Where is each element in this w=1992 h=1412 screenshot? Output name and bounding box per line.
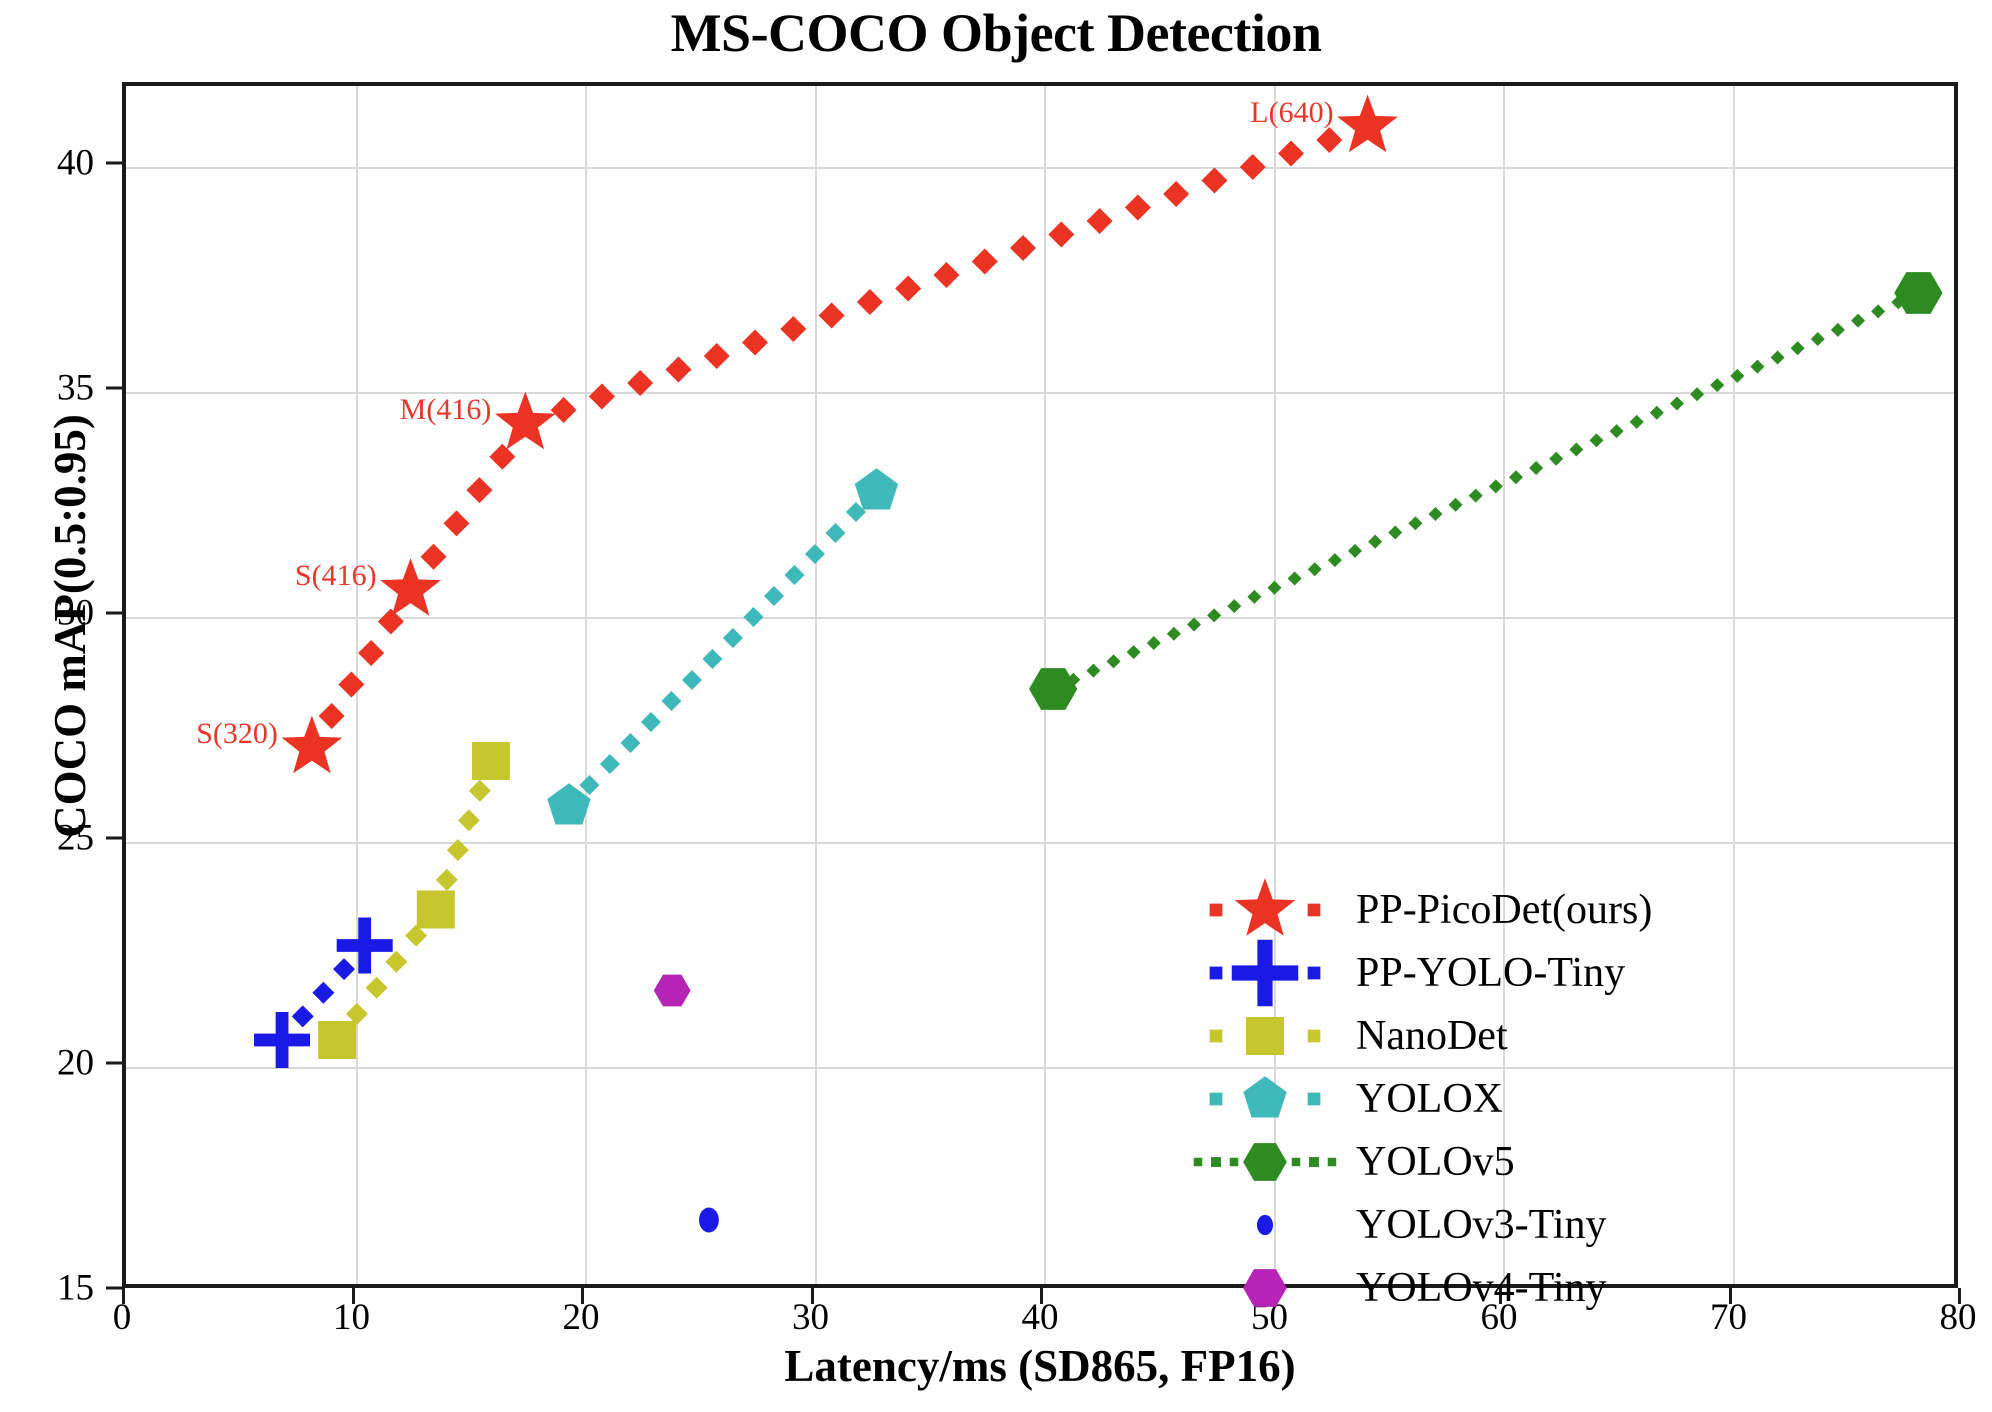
connector-dot-yolov5 [1086, 664, 1100, 678]
legend-marker-star-icon [1190, 881, 1350, 939]
connector-dot-pp-picodet(ours) [421, 544, 447, 570]
connector-dot-nanodet [405, 925, 427, 947]
legend-marker-pentagon-icon [1190, 1070, 1350, 1128]
connector-dot-yolox [846, 502, 866, 522]
connector-dot-pp-picodet(ours) [665, 357, 691, 383]
figure-canvas: MS-COCO Object Detection S(320)S(416)M(4… [0, 0, 1992, 1412]
y-tick-mark [106, 162, 122, 165]
connector-dot-yolox [764, 586, 784, 606]
point-label-m-416-: M(416) [400, 393, 492, 427]
connector-dot-yolov5 [1509, 470, 1523, 484]
connector-dot-yolov5 [1328, 553, 1342, 567]
x-tick-label: 80 [1898, 1296, 1992, 1339]
connector-dot-yolov5 [1167, 627, 1181, 641]
connector-dot-yolov5 [1549, 452, 1563, 466]
data-point-pp-picodet-ours- [1337, 95, 1398, 153]
connector-dot-pp-picodet(ours) [1278, 141, 1304, 167]
connector-dot-pp-picodet(ours) [933, 262, 959, 288]
connector-dot-yolov5 [1408, 516, 1422, 530]
legend-glyph [1243, 1143, 1287, 1181]
x-axis-label: Latency/ms (SD865, FP16) [122, 1340, 1958, 1392]
connector-dot-yolov5 [1750, 360, 1764, 374]
connector-dot-yolov5 [1771, 350, 1785, 364]
gridline-vertical [1733, 86, 1735, 1284]
gridline-vertical [1044, 86, 1046, 1284]
connector-dot-pp-picodet(ours) [443, 510, 469, 536]
legend-marker-hexagon-icon [1190, 1259, 1350, 1317]
connector-dot-pp-picodet(ours) [338, 672, 364, 698]
point-label-s-416-: S(416) [295, 559, 377, 593]
legend-line-dot [1210, 1029, 1223, 1042]
connector-dot-yolox [579, 775, 599, 795]
connector-dot-yolov5 [1207, 608, 1221, 622]
connector-dot-nanodet [385, 951, 407, 973]
connector-dot-yolox [661, 691, 681, 711]
legend-glyph [1235, 878, 1296, 936]
legend-marker-circle-icon [1190, 1196, 1350, 1254]
connector-dot-nanodet [469, 780, 491, 802]
connector-dot-yolox [702, 649, 722, 669]
connector-dot-yolov5 [1368, 535, 1382, 549]
connector-dot-yolov5 [1610, 424, 1624, 438]
connector-dot-yolov5 [1288, 571, 1302, 585]
connector-dot-nanodet [436, 869, 458, 891]
gridline-vertical [815, 86, 817, 1284]
gridline-horizontal [126, 617, 1954, 619]
connector-dot-yolox [682, 670, 702, 690]
connector-dot-yolov5 [1489, 479, 1503, 493]
legend-glyph [1257, 1214, 1273, 1234]
legend-line-dot [1230, 1157, 1238, 1165]
legend-line-dot [1308, 1029, 1321, 1042]
data-point-yolov5 [1894, 272, 1942, 314]
connector-dot-pp-picodet(ours) [319, 703, 345, 729]
x-tick-label: 40 [980, 1296, 1100, 1339]
legend-label: PP-YOLO-Tiny [1356, 949, 1625, 997]
connector-dot-yolov5 [1247, 590, 1261, 604]
connector-dot-pp-picodet(ours) [489, 444, 515, 470]
data-point-nanodet [472, 742, 510, 780]
legend-line-dot [1308, 966, 1321, 979]
x-tick-label: 10 [292, 1296, 412, 1339]
connector-dot-nanodet [366, 977, 388, 999]
y-tick-mark [106, 387, 122, 390]
data-point-nanodet [417, 891, 455, 929]
legend: PP-PicoDet(ours)PP-YOLO-TinyNanoDetYOLOX… [1190, 878, 1690, 1319]
connector-dot-yolov5 [1871, 304, 1885, 318]
y-tick-mark [106, 837, 122, 840]
data-point-yolox [855, 468, 898, 509]
data-point-pp-yolo-tiny [337, 918, 393, 974]
connector-dot-pp-picodet(ours) [1201, 168, 1227, 194]
data-point-yolov4-tiny [654, 975, 691, 1007]
connector-dot-yolox [641, 712, 661, 732]
connector-dot-yolov5 [1449, 498, 1463, 512]
legend-line-dot [1211, 1157, 1221, 1167]
legend-item-pp-yolo-tiny[interactable]: PP-YOLO-Tiny [1190, 941, 1690, 1004]
data-point-yolov5 [1029, 668, 1077, 710]
connector-dot-pp-picodet(ours) [466, 477, 492, 503]
point-label-s-320-: S(320) [196, 717, 278, 751]
connector-dot-yolov5 [1569, 443, 1583, 457]
connector-dot-yolov5 [1388, 525, 1402, 539]
connector-dot-pp-picodet(ours) [378, 609, 404, 635]
x-tick-label: 20 [521, 1296, 641, 1339]
connector-dot-yolov5 [1308, 562, 1322, 576]
legend-label: YOLOv3-Tiny [1356, 1201, 1606, 1249]
legend-line-dot [1308, 903, 1321, 916]
legend-line-dot [1194, 1157, 1202, 1165]
legend-label: YOLOX [1356, 1075, 1503, 1123]
connector-dot-yolov5 [1127, 645, 1141, 659]
connector-dot-yolov5 [1529, 461, 1543, 475]
connector-dot-yolov5 [1147, 636, 1161, 650]
x-tick-label: 0 [62, 1296, 182, 1339]
y-tick-mark [106, 1287, 122, 1290]
legend-glyph [1246, 1017, 1284, 1055]
legend-item-yolov3-tiny[interactable]: YOLOv3-Tiny [1190, 1193, 1690, 1256]
connector-dot-yolov5 [1650, 406, 1664, 420]
y-axis-label: COCO mAP(0.5:0.95) [44, 176, 96, 1076]
x-tick-label: 30 [751, 1296, 871, 1339]
gridline-vertical [356, 86, 358, 1284]
connector-dot-yolov5 [1348, 544, 1362, 558]
connector-dot-yolov5 [1589, 433, 1603, 447]
connector-dot-pp-picodet(ours) [704, 343, 730, 369]
chart-title: MS-COCO Object Detection [0, 2, 1992, 64]
legend-item-nanodet[interactable]: NanoDet [1190, 1004, 1690, 1067]
connector-dot-pp-picodet(ours) [1048, 222, 1074, 248]
data-point-nanodet [318, 1021, 356, 1059]
connector-dot-yolov5 [1670, 397, 1684, 411]
legend-line-dot [1328, 1157, 1336, 1165]
legend-item-yolov5[interactable]: YOLOv5 [1190, 1130, 1690, 1193]
legend-marker-square-icon [1190, 1007, 1350, 1065]
connector-dot-pp-picodet(ours) [895, 276, 921, 302]
connector-dot-pp-picodet(ours) [780, 316, 806, 342]
gridline-horizontal [126, 842, 1954, 844]
legend-line-dot [1210, 966, 1223, 979]
connector-dot-yolov5 [1630, 415, 1644, 429]
legend-line-dot [1308, 1092, 1321, 1105]
connector-dot-pp-yolo-tiny [312, 982, 334, 1004]
legend-glyph [1232, 939, 1299, 1006]
y-tick-mark [106, 612, 122, 615]
connector-dot-yolox [600, 754, 620, 774]
legend-line-dot [1210, 1092, 1223, 1105]
connector-dot-yolov5 [1227, 599, 1241, 613]
gridline-vertical [585, 86, 587, 1284]
connector-dot-yolov5 [1107, 654, 1121, 668]
data-point-pp-picodet-ours- [495, 392, 556, 450]
connector-dot-yolov5 [1187, 618, 1201, 632]
connector-dot-pp-picodet(ours) [972, 249, 998, 275]
connector-dot-pp-picodet(ours) [358, 640, 384, 666]
connector-dot-pp-picodet(ours) [1316, 127, 1342, 153]
legend-glyph [1243, 1269, 1287, 1307]
legend-marker-hexagon-icon [1190, 1133, 1350, 1191]
connector-dot-pp-picodet(ours) [589, 384, 615, 410]
y-tick-mark [106, 1062, 122, 1065]
legend-glyph [1243, 1076, 1286, 1117]
legend-line-dot [1292, 1157, 1300, 1165]
data-point-yolov3-tiny [699, 1208, 719, 1233]
connector-dot-pp-picodet(ours) [742, 330, 768, 356]
legend-item-yolov4-tiny[interactable]: YOLOv4-Tiny [1190, 1256, 1690, 1319]
legend-label: NanoDet [1356, 1012, 1508, 1060]
connector-dot-yolov5 [1851, 314, 1865, 328]
connector-dot-yolov5 [1831, 323, 1845, 337]
legend-item-pp-picodet-ours-[interactable]: PP-PicoDet(ours) [1190, 878, 1690, 941]
data-point-pp-yolo-tiny [254, 1012, 310, 1068]
connector-dot-yolov5 [1891, 295, 1905, 309]
connector-dot-pp-picodet(ours) [1125, 195, 1151, 221]
legend-item-yolox[interactable]: YOLOX [1190, 1067, 1690, 1130]
connector-dot-yolox [620, 733, 640, 753]
connector-dot-pp-picodet(ours) [1010, 235, 1036, 261]
connector-dot-yolov5 [1066, 673, 1080, 687]
gridline-horizontal [126, 167, 1954, 169]
connector-dot-yolov5 [1791, 341, 1805, 355]
connector-dot-yolov5 [1469, 489, 1483, 503]
legend-label: PP-PicoDet(ours) [1356, 886, 1652, 934]
connector-dot-yolov5 [1428, 507, 1442, 521]
point-label-l-640-: L(640) [1250, 96, 1333, 130]
connector-dot-pp-picodet(ours) [1163, 181, 1189, 207]
connector-dot-yolov5 [1811, 332, 1825, 346]
legend-marker-plus-icon [1190, 944, 1350, 1002]
connector-dot-yolox [825, 523, 845, 543]
legend-label: YOLOv4-Tiny [1356, 1264, 1606, 1312]
connector-dot-yolox [723, 628, 743, 648]
connector-dot-nanodet [458, 809, 480, 831]
connector-dot-pp-picodet(ours) [1087, 208, 1113, 234]
connector-dot-pp-picodet(ours) [551, 397, 577, 423]
connector-dot-yolov5 [1710, 378, 1724, 392]
connector-dot-pp-picodet(ours) [819, 303, 845, 329]
connector-dot-yolox [784, 565, 804, 585]
data-point-pp-picodet-ours- [282, 716, 343, 774]
legend-label: YOLOv5 [1356, 1138, 1515, 1186]
legend-line-dot [1309, 1157, 1319, 1167]
connector-dot-pp-picodet(ours) [857, 289, 883, 315]
legend-line-dot [1210, 903, 1223, 916]
connector-dot-yolov5 [1690, 387, 1704, 401]
connector-dot-pp-yolo-tiny [292, 1005, 314, 1027]
connector-dot-pp-yolo-tiny [333, 958, 355, 980]
data-point-pp-picodet-ours- [380, 558, 441, 616]
